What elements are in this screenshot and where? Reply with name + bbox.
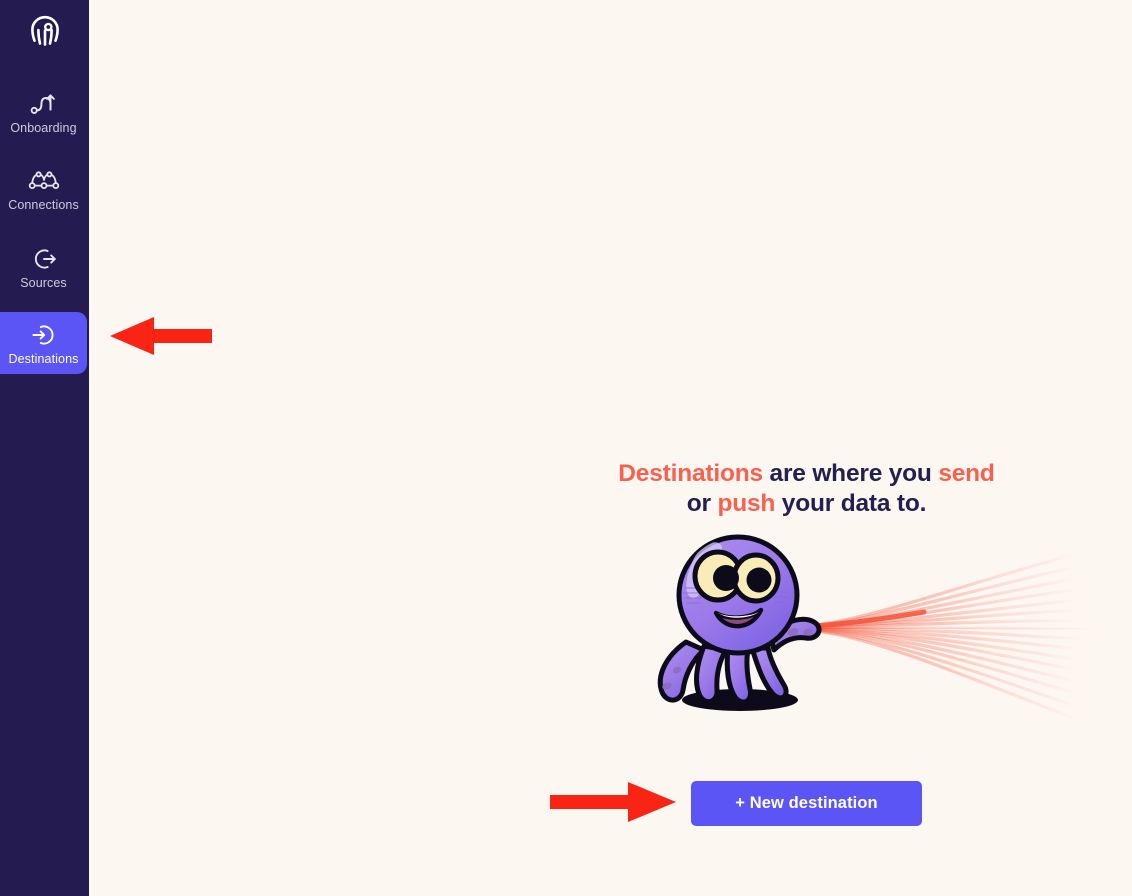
octopus-logo-icon bbox=[26, 14, 64, 61]
headline-text-2: or bbox=[687, 490, 718, 517]
path-curve-arrow-icon bbox=[29, 90, 59, 118]
sidebar: Onboarding Connections So bbox=[0, 0, 89, 896]
sidebar-item-onboarding[interactable]: Onboarding bbox=[0, 81, 87, 143]
sidebar-item-connections[interactable]: Connections bbox=[0, 158, 87, 220]
octopus-mascot-illustration bbox=[634, 520, 1114, 760]
page-headline: Destinations are where you sendor push y… bbox=[89, 459, 1132, 518]
headline-text-1: are where you bbox=[763, 460, 938, 487]
sidebar-item-destinations[interactable]: Destinations bbox=[0, 312, 87, 374]
headline-text-3: your data to. bbox=[775, 490, 926, 517]
sidebar-item-label: Connections bbox=[8, 198, 79, 212]
sidebar-item-sources[interactable]: Sources bbox=[0, 236, 87, 298]
headline-send: send bbox=[938, 460, 994, 487]
sidebar-item-label: Destinations bbox=[9, 352, 79, 366]
circle-arrow-out-icon bbox=[29, 245, 59, 273]
new-destination-button[interactable]: + New destination bbox=[691, 781, 922, 826]
circle-arrow-in-icon bbox=[29, 321, 59, 349]
sidebar-item-label: Onboarding bbox=[10, 121, 76, 135]
brand-logo[interactable] bbox=[0, 12, 89, 62]
network-nodes-icon bbox=[27, 167, 61, 195]
headline-push: push bbox=[717, 490, 775, 517]
headline-destinations: Destinations bbox=[618, 460, 763, 487]
main-content: Destinations are where you sendor push y… bbox=[89, 0, 1132, 896]
sidebar-item-label: Sources bbox=[20, 276, 67, 290]
